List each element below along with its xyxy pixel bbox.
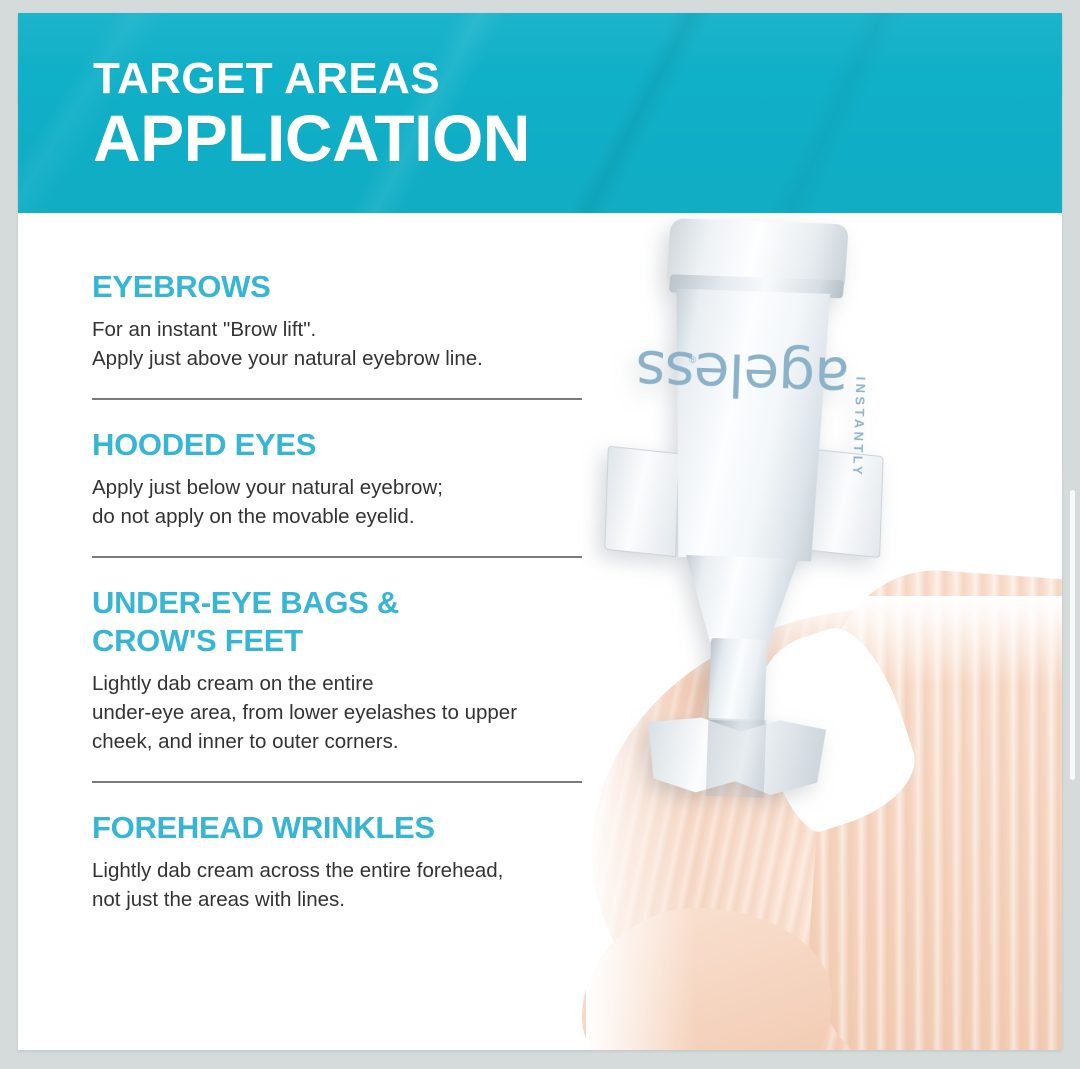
infographic-card: TARGET AREAS APPLICATION EYEBROWS For an… [18,13,1062,1050]
content-area: EYEBROWS For an instant "Brow lift". App… [18,213,1062,1050]
section-divider [92,398,584,400]
page-scrollbar[interactable] [1069,0,1078,1069]
section-hooded-eyes: HOODED EYES Apply just below your natura… [92,426,612,531]
section-heading: UNDER-EYE BAGS & CROW'S FEET [92,584,612,660]
section-heading: FOREHEAD WRINKLES [92,809,612,847]
section-body: For an instant "Brow lift". Apply just a… [92,315,612,373]
header-eyebrow-title: TARGET AREAS [93,57,530,102]
scrollbar-thumb[interactable] [1070,490,1075,780]
section-body: Apply just below your natural eyebrow; d… [92,473,612,531]
vial-body [664,288,833,561]
page-title: APPLICATION [93,104,530,173]
section-divider [92,781,584,783]
section-body: Lightly dab cream across the entire fore… [92,856,612,914]
vial-neck [683,555,798,645]
instruction-sections: EYEBROWS For an instant "Brow lift". App… [92,268,612,914]
section-heading: HOODED EYES [92,426,612,464]
section-divider [92,556,584,558]
section-forehead-wrinkles: FOREHEAD WRINKLES Lightly dab cream acro… [92,809,612,914]
product-photo: INSTANTLY ageless ® [582,213,1062,1050]
header-title-group: TARGET AREAS APPLICATION [93,57,530,173]
section-body: Lightly dab cream on the entire under-ey… [92,669,612,756]
vial-wing-right [810,449,883,558]
section-eyebrows: EYEBROWS For an instant "Brow lift". App… [92,268,612,373]
vial-base-shading [706,718,767,798]
vial-wing-left [604,446,679,557]
section-heading: EYEBROWS [92,268,612,306]
product-vial: INSTANTLY ageless ® [594,216,893,785]
section-under-eye-bags-crows-feet: UNDER-EYE BAGS & CROW'S FEET Lightly dab… [92,584,612,756]
header-band: TARGET AREAS APPLICATION [18,13,1062,213]
